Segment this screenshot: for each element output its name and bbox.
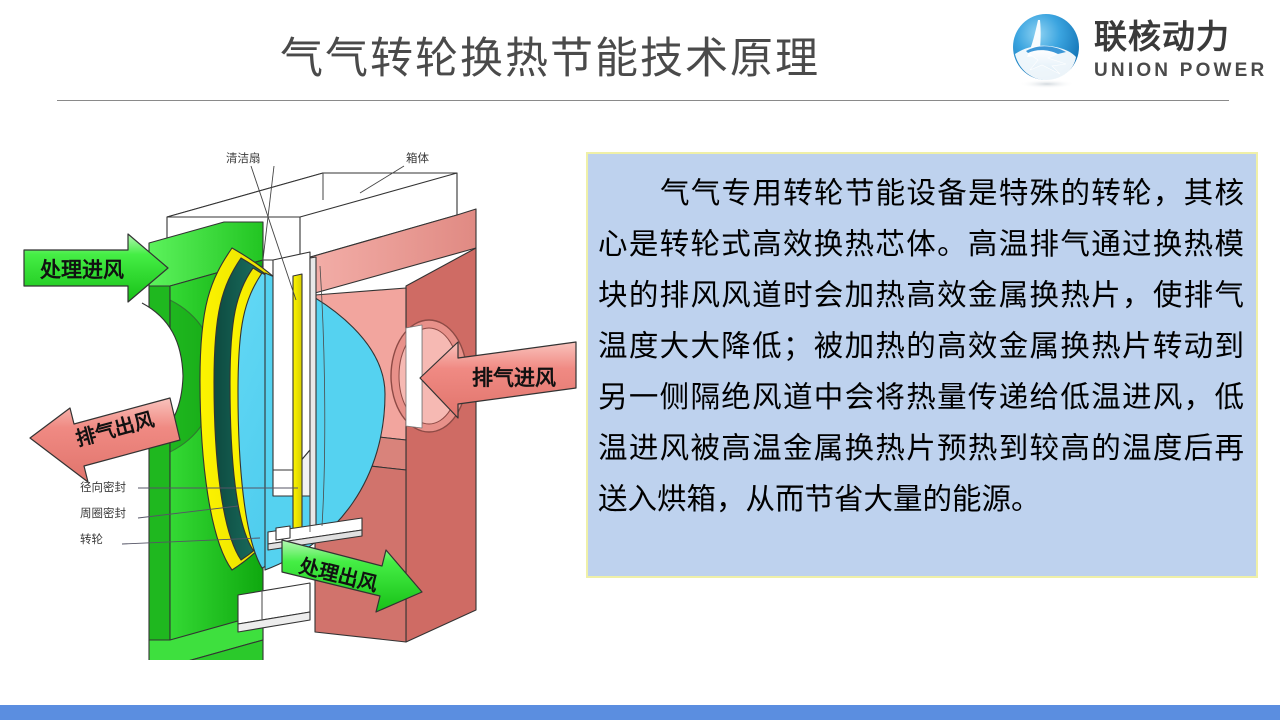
brand-logo: 联核动力 UNION POWER xyxy=(1008,10,1266,96)
footer-accent-bar xyxy=(0,705,1280,720)
heat-exchanger-diagram: 清洁扇 箱体 径向密封 周圈密封 xyxy=(10,140,580,660)
callout-circ-seal-label: 周圈密封 xyxy=(80,506,126,520)
arrow-exhaust-air-inlet-label: 排气进风 xyxy=(472,366,556,390)
callout-casing-label: 箱体 xyxy=(406,151,429,165)
description-panel: 气气专用转轮节能设备是特殊的转轮，其核心是转轮式高效换热芯体。高温排气通过换热模… xyxy=(586,152,1258,578)
brand-name-en: UNION POWER xyxy=(1094,59,1266,83)
page-title: 气气转轮换热节能技术原理 xyxy=(120,20,980,90)
arrow-process-air-inlet-label: 处理进风 xyxy=(39,258,124,282)
callout-rotor-label: 转轮 xyxy=(80,532,103,546)
diagram-svg: 清洁扇 箱体 径向密封 周圈密封 xyxy=(10,140,580,660)
arrow-process-air-inlet: 处理进风 xyxy=(24,234,168,302)
header-divider xyxy=(57,100,1229,101)
callout-clean-fan-label: 清洁扇 xyxy=(226,151,261,165)
brand-text: 联核动力 UNION POWER xyxy=(1094,18,1266,90)
union-power-sphere-icon xyxy=(1008,12,1086,90)
brand-name-cn: 联核动力 xyxy=(1094,18,1266,56)
slide-root: 气气转轮换热节能技术原理 xyxy=(0,0,1280,720)
description-paragraph: 气气专用转轮节能设备是特殊的转轮，其核心是转轮式高效换热芯体。高温排气通过换热模… xyxy=(598,168,1244,525)
callout-radial-seal-label: 径向密封 xyxy=(80,480,126,494)
